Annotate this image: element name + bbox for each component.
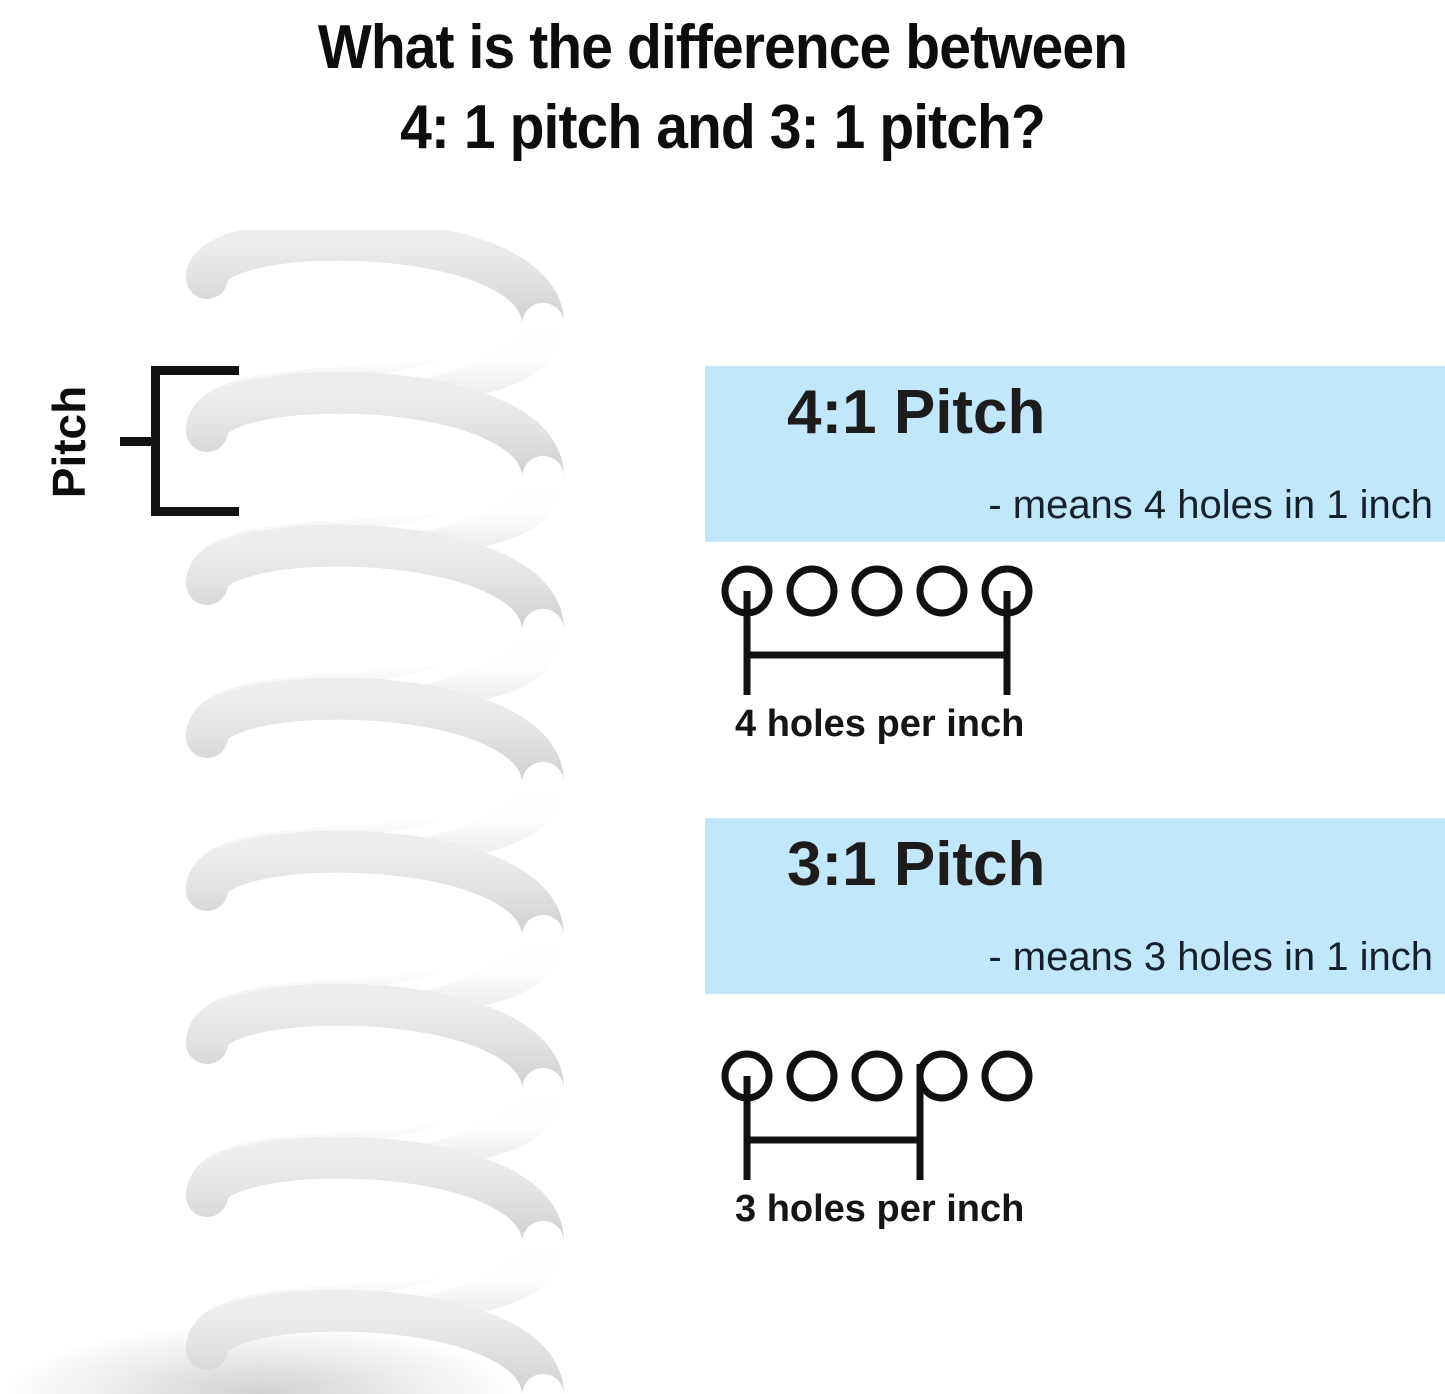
pitch-bracket-bottom-arm — [151, 507, 239, 516]
callout-box-4-1: 4:1 Pitch - means 4 holes in 1 inch — [705, 366, 1445, 542]
callout-title-4-1: 4:1 Pitch — [787, 378, 1045, 448]
coil-illustration — [0, 230, 690, 1394]
callout-box-3-1: 3:1 Pitch - means 3 holes in 1 inch — [705, 818, 1445, 994]
hole-circle — [790, 569, 834, 613]
coil-turn-back — [207, 852, 543, 936]
hole-circle — [920, 1054, 964, 1098]
pitch-bracket-tick — [120, 437, 154, 446]
hole-diagram-3-1: 3 holes per inch — [705, 1040, 1125, 1240]
hole-diagram-3-1-graphic — [705, 1040, 1125, 1185]
coil-turn-back — [207, 546, 543, 630]
callout-subtitle-4-1: - means 4 holes in 1 inch — [988, 482, 1433, 528]
infographic-page: What is the difference between 4: 1 pitc… — [0, 0, 1445, 1394]
coil-turn-back — [207, 1158, 543, 1242]
coil-turn-back — [207, 1311, 543, 1394]
spiral-coil-graphic — [175, 230, 605, 1394]
hole-diagram-4-1: 4 holes per inch — [705, 555, 1125, 755]
hole-circle — [855, 569, 899, 613]
callout-title-3-1: 3:1 Pitch — [787, 830, 1045, 900]
callout-subtitle-3-1: - means 3 holes in 1 inch — [988, 934, 1433, 980]
page-title: What is the difference between 4: 1 pitc… — [58, 8, 1387, 168]
hole-circle — [855, 1054, 899, 1098]
pitch-bracket-top-arm — [151, 366, 239, 375]
hole-diagram-caption-4-1: 4 holes per inch — [735, 703, 1024, 746]
coil-turn-back — [207, 1005, 543, 1089]
hole-circle — [985, 1054, 1029, 1098]
hole-circle — [920, 569, 964, 613]
coil-turn-back — [207, 393, 543, 477]
hole-diagram-caption-3-1: 3 holes per inch — [735, 1188, 1024, 1231]
hole-diagram-4-1-graphic — [705, 555, 1125, 700]
hole-circle — [790, 1054, 834, 1098]
coil-turn-back — [207, 240, 543, 324]
pitch-label: Pitch — [42, 362, 96, 522]
coil-turn-back — [207, 699, 543, 783]
